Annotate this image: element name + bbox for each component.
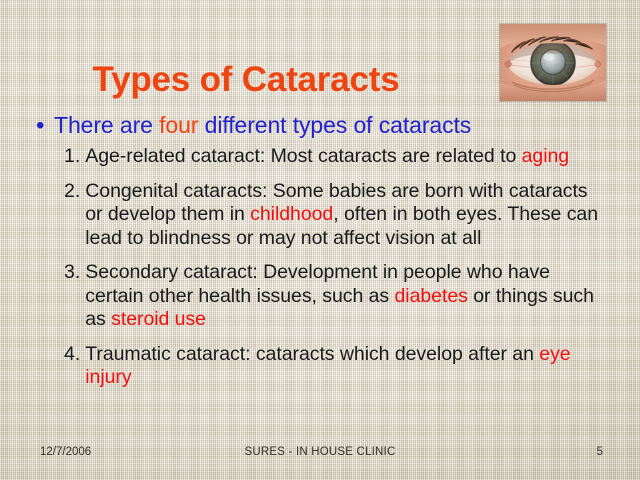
- bullet-point-icon: •: [36, 112, 54, 139]
- list-item-number: 4.: [64, 343, 85, 367]
- list-item-text: Traumatic cataract: cataracts which deve…: [85, 343, 610, 390]
- list-item-number: 1.: [64, 145, 85, 169]
- list-item-text: Age-related cataract: Most cataracts are…: [85, 145, 569, 169]
- slide-body: • There are four different types of cata…: [0, 112, 640, 390]
- list-item-text: Congenital cataracts: Some babies are bo…: [85, 180, 610, 251]
- slide-title: Types of Cataracts: [0, 59, 492, 101]
- eye-with-cataract-photo: [500, 24, 606, 101]
- item-highlight-1: aging: [522, 145, 569, 167]
- slide-footer: 12/7/2006 SURES - IN HOUSE CLINIC 5: [0, 438, 640, 480]
- list-item: 3. Secondary cataract: Development in pe…: [0, 261, 640, 332]
- list-item: 1. Age-related cataract: Most cataracts …: [0, 145, 640, 169]
- item-highlight-1: childhood: [250, 203, 333, 225]
- list-item: 4. Traumatic cataract: cataracts which d…: [0, 343, 640, 390]
- item-text-part-1: Age-related cataract: Most cataracts are…: [85, 145, 521, 167]
- item-highlight-2: steroid use: [111, 308, 206, 330]
- list-item-number: 3.: [64, 261, 85, 285]
- bullet-level-1-text: There are four different types of catara…: [54, 112, 471, 139]
- bullet-highlight-four: four: [159, 112, 198, 138]
- bullet-text-part-1: There are: [54, 112, 159, 138]
- footer-page-number: 5: [597, 446, 603, 458]
- slide-content: Types of Cataracts: [0, 0, 640, 480]
- presentation-slide: Types of Cataracts: [0, 0, 640, 480]
- item-text-part-1: Traumatic cataract: cataracts which deve…: [85, 343, 539, 365]
- item-highlight-1: diabetes: [395, 285, 468, 307]
- list-item: 2. Congenital cataracts: Some babies are…: [0, 180, 640, 251]
- bullet-text-part-2: different types of cataracts: [198, 112, 471, 138]
- bullet-level-1: • There are four different types of cata…: [0, 112, 640, 139]
- list-item-text: Secondary cataract: Development in peopl…: [85, 261, 610, 332]
- footer-title: SURES - IN HOUSE CLINIC: [0, 446, 640, 458]
- list-item-number: 2.: [64, 180, 85, 204]
